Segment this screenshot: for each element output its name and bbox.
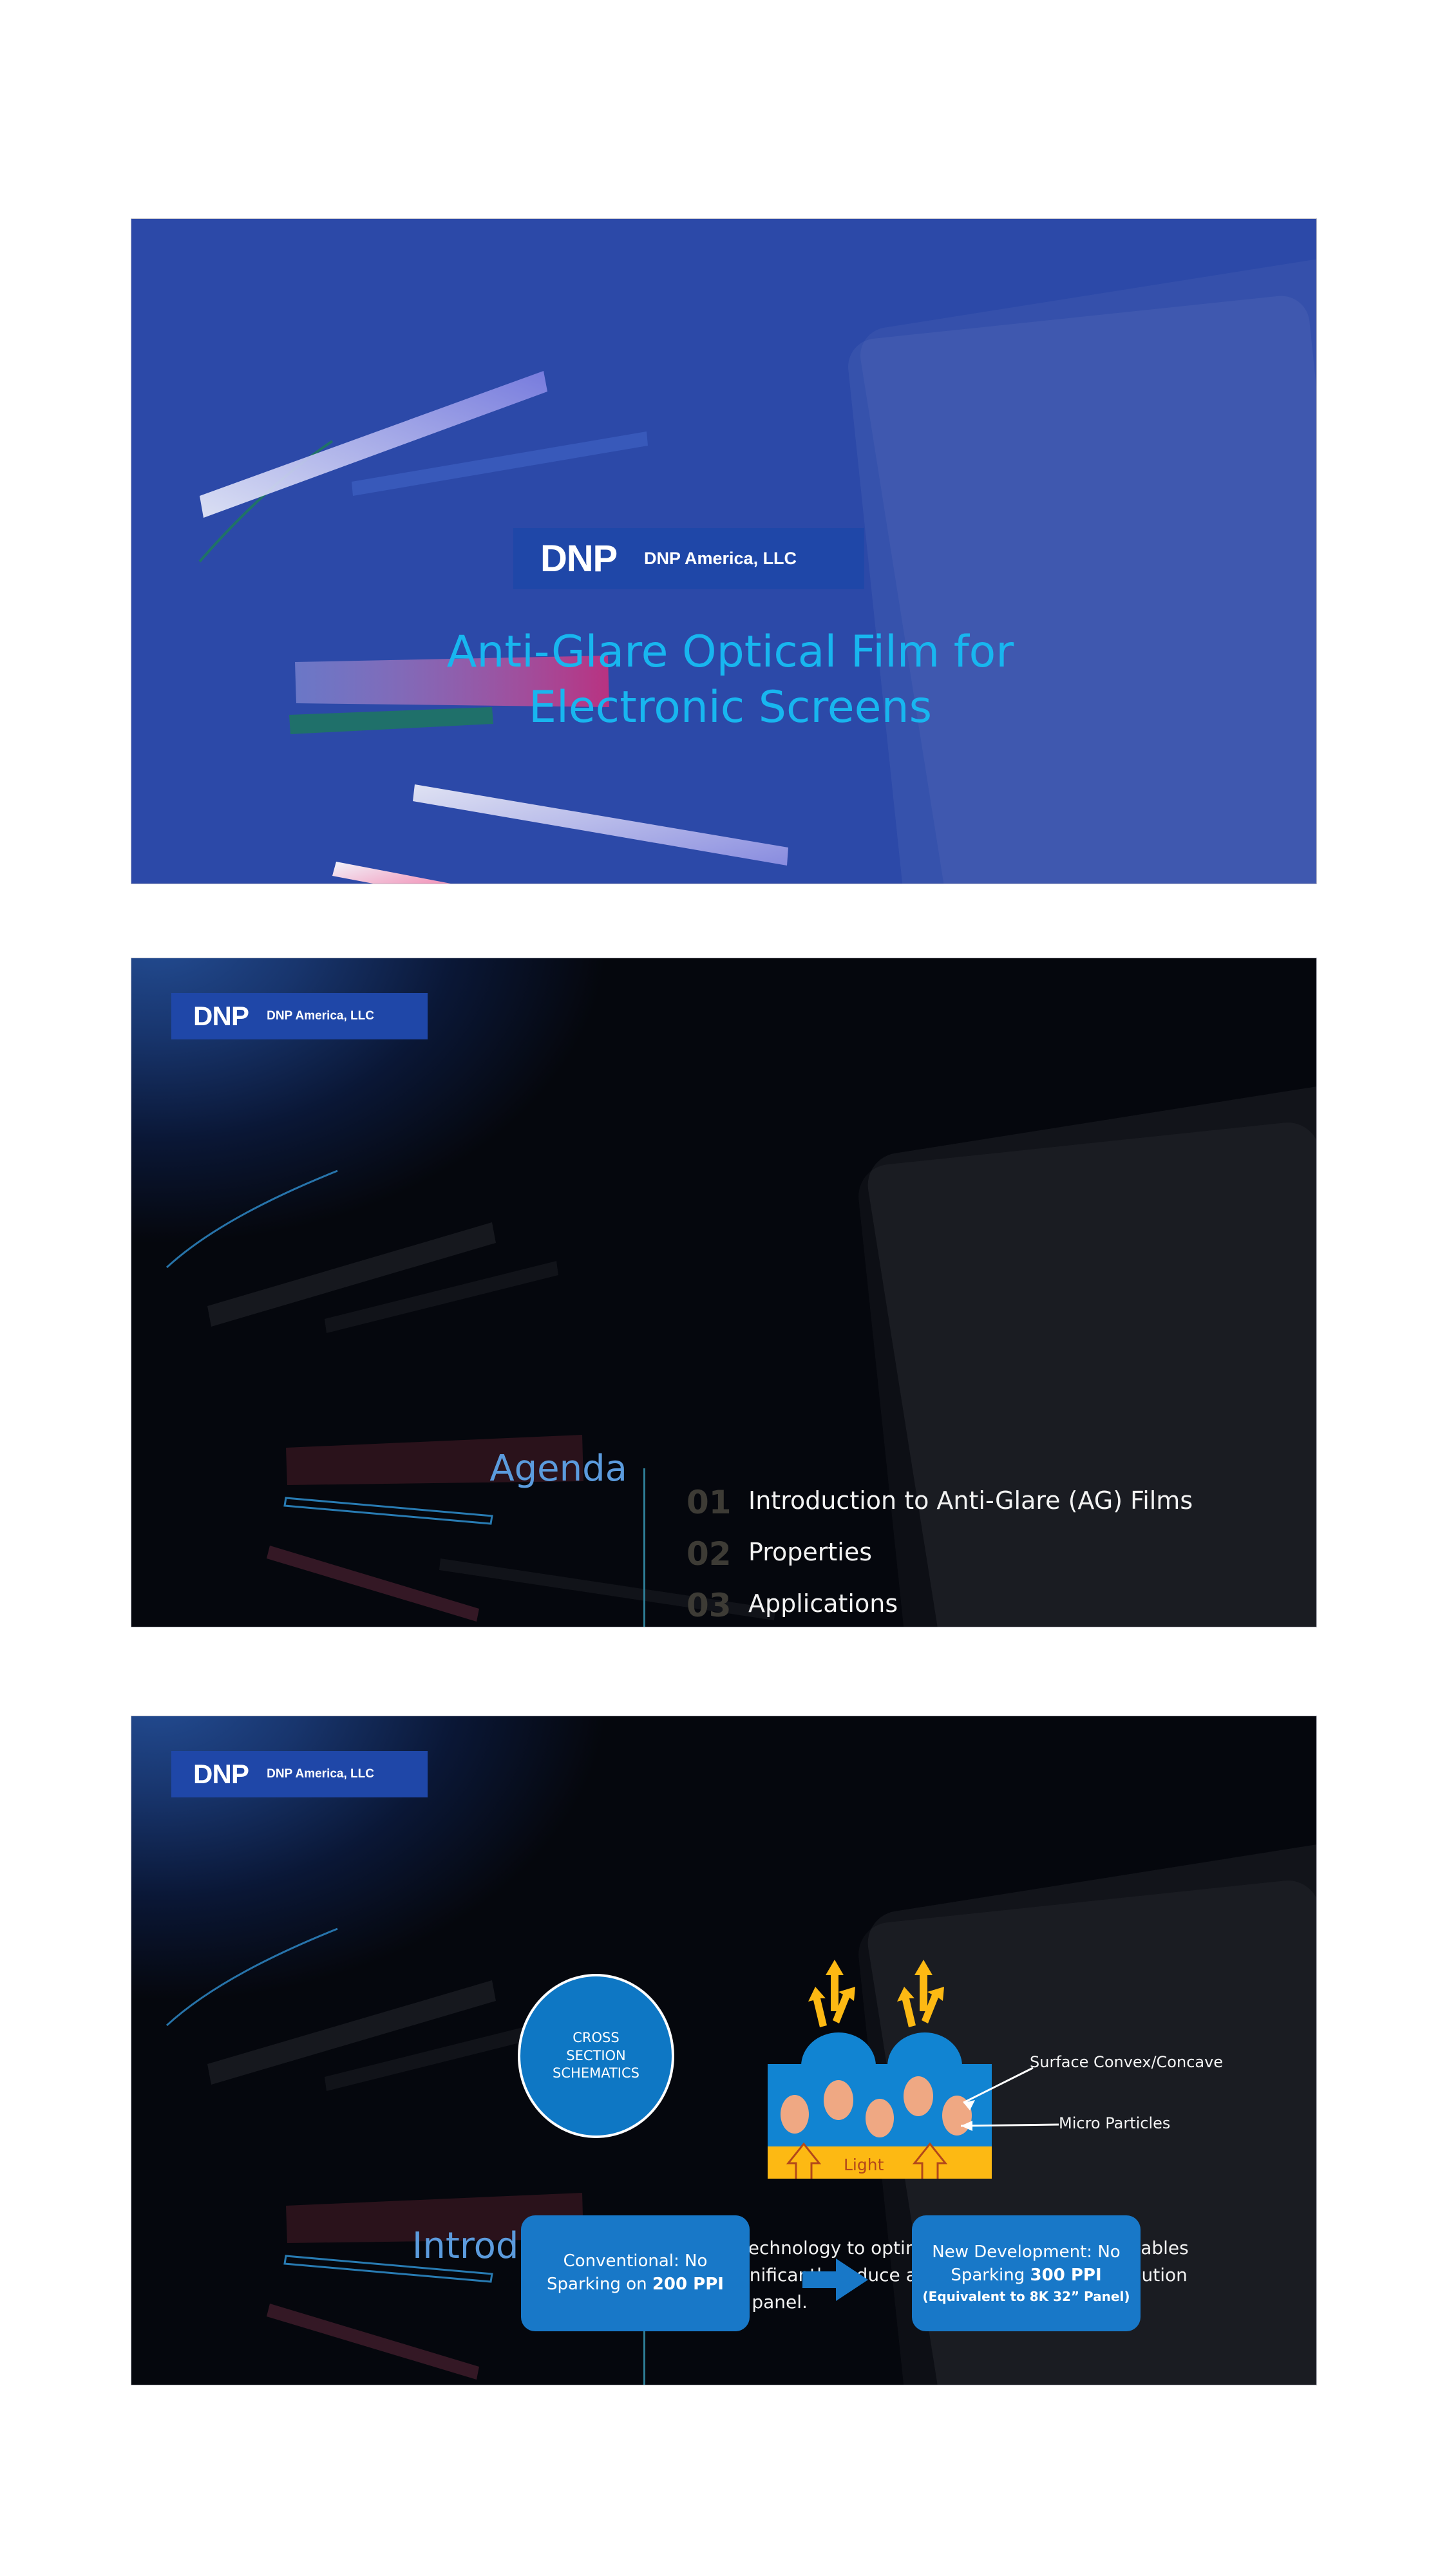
agenda-number: 02: [687, 1538, 734, 1570]
vertical-divider: [643, 1468, 645, 1627]
title-line-2: Electronic Screens: [325, 680, 1136, 735]
conventional-spec-card[interactable]: Conventional: No Sparking on 200 PPI: [521, 2215, 750, 2331]
badge-line-3: SCHEMATICS: [553, 2065, 639, 2083]
presentation-title: Anti-Glare Optical Film for Electronic S…: [325, 625, 1136, 735]
title-slide[interactable]: DNP DNP America, LLC Anti-Glare Optical …: [131, 219, 1316, 884]
dnp-logo-subtitle: DNP America, LLC: [267, 1767, 374, 1781]
slide-deck: DNP DNP America, LLC Anti-Glare Optical …: [0, 0, 1449, 2576]
badge-line-1: CROSS: [573, 2029, 619, 2047]
cross-section-badge[interactable]: CROSS SECTION SCHEMATICS: [518, 1974, 674, 2138]
agenda-number: 03: [687, 1589, 734, 1622]
dnp-logo-mark: DNP: [193, 1001, 249, 1032]
callout-micro-particles: Micro Particles: [1059, 2114, 1170, 2132]
title-line-1: Anti-Glare Optical Film for: [325, 625, 1136, 680]
dnp-logo-lockup[interactable]: DNP DNP America, LLC: [513, 528, 864, 589]
dnp-logo-subtitle: DNP America, LLC: [644, 549, 797, 569]
dnp-logo-lockup[interactable]: DNP DNP America, LLC: [171, 1751, 428, 1797]
conventional-ppi-value: 200 PPI: [652, 2275, 724, 2294]
right-arrow-icon: [801, 2257, 872, 2302]
agenda-label: Properties: [748, 1538, 872, 1567]
dnp-logo-lockup[interactable]: DNP DNP America, LLC: [171, 993, 428, 1039]
badge-line-2: SECTION: [566, 2047, 626, 2065]
callout-surface-convex-concave: Surface Convex/Concave: [1030, 2053, 1223, 2071]
list-item[interactable]: 01 Introduction to Anti-Glare (AG) Films: [687, 1486, 1266, 1519]
agenda-list: 01 Introduction to Anti-Glare (AG) Films…: [687, 1486, 1266, 1627]
dnp-logo-subtitle: DNP America, LLC: [267, 1009, 374, 1023]
new-dev-line-2-prefix: Sparking: [951, 2266, 1030, 2285]
new-dev-line-1: New Development: No: [932, 2241, 1120, 2264]
dnp-logo-mark: DNP: [540, 537, 617, 580]
conventional-line-2: Sparking on 200 PPI: [547, 2273, 724, 2297]
conventional-line-2-prefix: Sparking on: [547, 2275, 652, 2294]
agenda-slide[interactable]: DNP DNP America, LLC Agenda 01 Introduct…: [131, 958, 1316, 1627]
agenda-label: Applications: [748, 1589, 898, 1618]
list-item[interactable]: 03 Applications: [687, 1589, 1266, 1622]
agenda-number: 01: [687, 1486, 734, 1519]
list-item[interactable]: 02 Properties: [687, 1538, 1266, 1570]
light-label: Light: [844, 2155, 884, 2174]
diffused-light-arrows-icon: [808, 1960, 944, 2027]
section-title: Agenda: [344, 1448, 627, 1490]
dnp-logo-mark: DNP: [193, 1759, 249, 1790]
introduction-slide[interactable]: DNP DNP America, LLC Introduction DNP’s …: [131, 1716, 1316, 2385]
new-development-spec-card[interactable]: New Development: No Sparking 300 PPI (Eq…: [912, 2215, 1141, 2331]
agenda-label: Introduction to Anti-Glare (AG) Films: [748, 1486, 1193, 1515]
new-dev-ppi-value: 300 PPI: [1030, 2266, 1102, 2285]
new-dev-line-2: Sparking 300 PPI: [951, 2264, 1101, 2287]
conventional-line-1: Conventional: No: [563, 2250, 708, 2273]
new-dev-equivalent-note: (Equivalent to 8K 32” Panel): [923, 2287, 1130, 2306]
